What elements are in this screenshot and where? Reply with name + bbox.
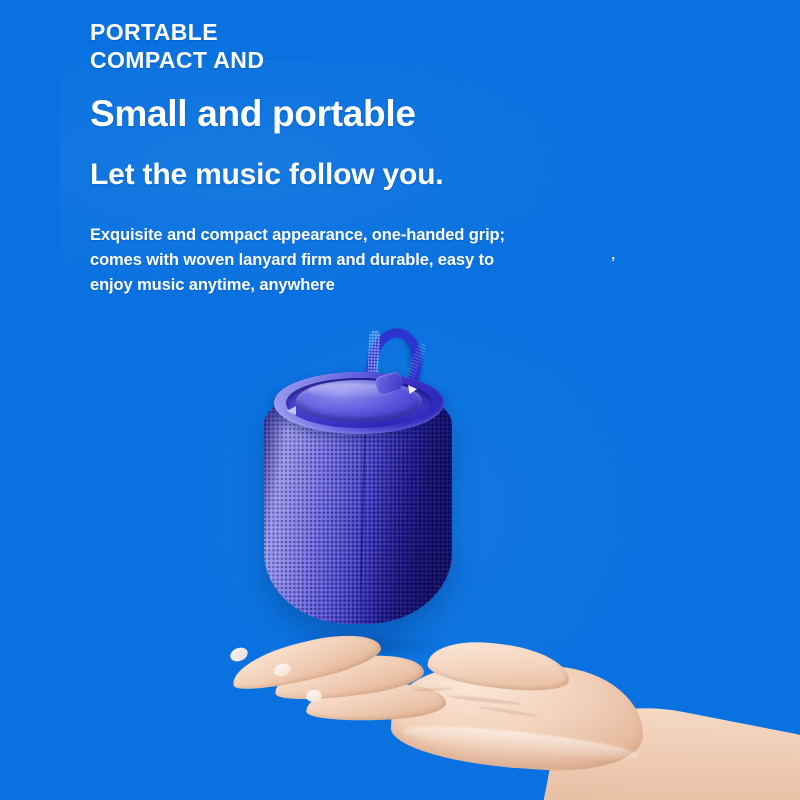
stray-apostrophe-mark: ’ xyxy=(611,250,615,275)
eyebrow-line-2: COMPACT AND xyxy=(90,46,730,74)
product-speaker xyxy=(258,328,458,628)
body-copy-line-3: enjoy music anytime, anywhere xyxy=(90,273,630,298)
body-copy: Exquisite and compact appearance, one-ha… xyxy=(90,223,630,298)
body-copy-line-2: comes with woven lanyard firm and durabl… xyxy=(90,248,630,273)
subheadline: Let the music follow you. xyxy=(90,157,730,193)
page-title: Small and portable xyxy=(90,92,730,136)
index-fingernail xyxy=(228,645,250,664)
open-palm-hand xyxy=(196,636,800,800)
body-copy-line-1: Exquisite and compact appearance, one-ha… xyxy=(90,223,630,248)
eyebrow-text: PORTABLE COMPACT AND xyxy=(90,18,730,74)
eyebrow-line-1: PORTABLE xyxy=(90,18,730,46)
copy-block: PORTABLE COMPACT AND Small and portable … xyxy=(90,18,730,298)
product-ad-poster: PORTABLE COMPACT AND Small and portable … xyxy=(0,0,800,800)
